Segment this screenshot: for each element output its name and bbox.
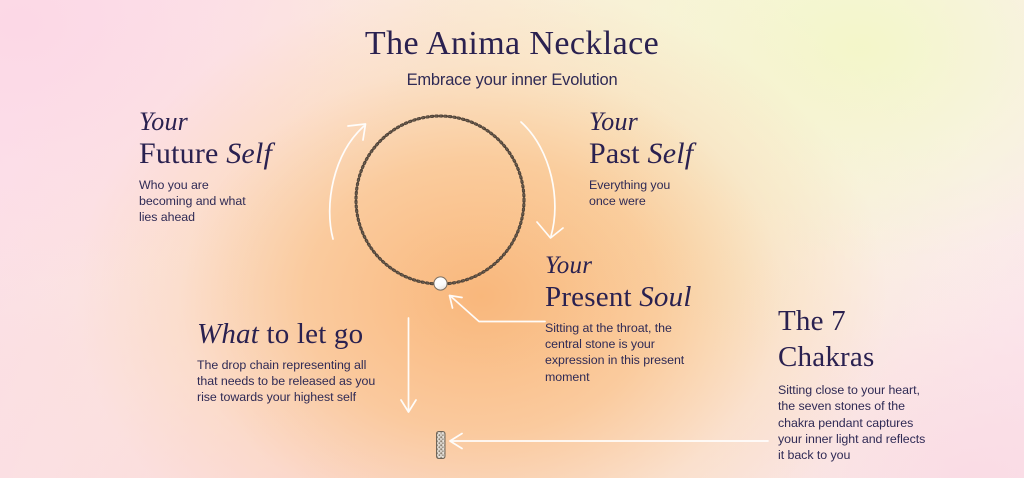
past-self-description: Everything you once were [589, 177, 693, 209]
past-self-line1: Your [589, 108, 693, 135]
necklace-chain-ring [356, 116, 524, 284]
present-soul-word-italic: Soul [639, 281, 691, 313]
chakra-pendant [437, 432, 446, 459]
chakras-line1: The 7 [778, 306, 925, 336]
past-self-word-italic: Self [648, 137, 694, 170]
past-self-word-roman: Past [589, 137, 648, 170]
past-self-arrow [521, 122, 563, 238]
title-block: The Anima Necklace Embrace your inner Ev… [0, 26, 1024, 92]
let-go-word-roman: to let go [259, 318, 363, 350]
future-self-word-italic: Self [226, 137, 272, 170]
chakras-description: Sitting close to your heart, the seven s… [778, 382, 925, 463]
past-self-line2: Past Self [589, 138, 693, 169]
let-go-description: The drop chain representing all that nee… [197, 357, 375, 405]
central-throat-stone [434, 277, 447, 290]
label-future-self: Your Future Self Who you are becoming an… [139, 108, 272, 226]
present-soul-line1: Your [545, 253, 692, 279]
let-go-word-italic: What [197, 318, 259, 350]
chakra-pointer-arrow [450, 434, 768, 449]
let-go-arrow [401, 318, 416, 412]
page-subtitle: Embrace your inner Evolution [0, 70, 1024, 91]
future-self-word-roman: Future [139, 137, 226, 170]
future-self-arrow [330, 124, 366, 239]
label-past-self: Your Past Self Everything you once were [589, 108, 693, 209]
present-soul-word-roman: Present [545, 281, 639, 313]
label-seven-chakras: The 7 Chakras Sitting close to your hear… [778, 306, 925, 463]
necklace-infographic: The Anima Necklace Embrace your inner Ev… [0, 0, 1024, 478]
page-title: The Anima Necklace [0, 26, 1024, 61]
chakras-line2: Chakras [778, 342, 925, 372]
label-what-to-let-go: What to let go The drop chain representi… [197, 319, 375, 406]
future-self-line2: Future Self [139, 138, 272, 169]
present-soul-description: Sitting at the throat, the central stone… [545, 320, 692, 385]
present-soul-line2: Present Soul [545, 282, 692, 312]
present-soul-pointer [450, 296, 546, 322]
label-present-soul: Your Present Soul Sitting at the throat,… [545, 253, 692, 385]
future-self-description: Who you are becoming and what lies ahead [139, 177, 272, 225]
future-self-line1: Your [139, 108, 272, 135]
let-go-heading: What to let go [197, 319, 375, 349]
